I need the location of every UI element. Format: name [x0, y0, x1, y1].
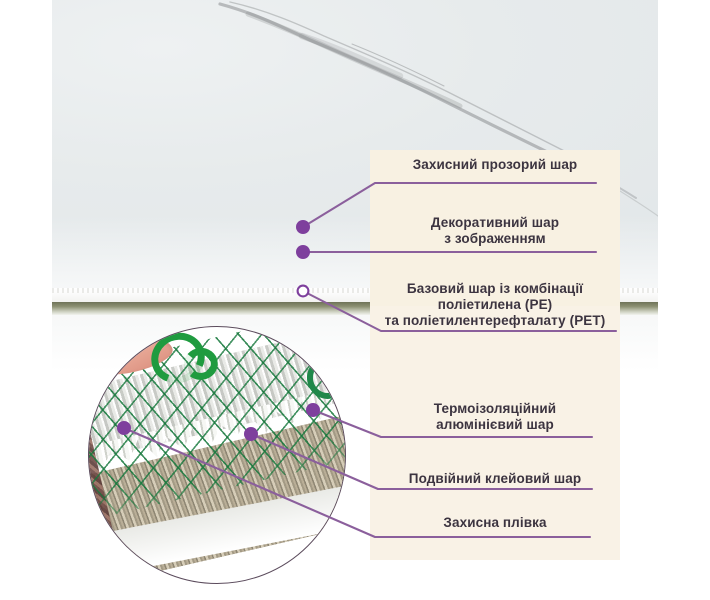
label-line-1: Подвійний клейовий шар [374, 471, 616, 487]
label-line-2: поліетилена (PE) [372, 297, 618, 313]
marker-decorative-image[interactable] [296, 245, 310, 259]
diagram-canvas: Захисний прозорий шар Декоративний шар з… [0, 0, 710, 600]
label-line-3: та поліетилентерефталату (PET) [372, 313, 618, 329]
label-double-adhesive-layer: Подвійний клейовий шар [374, 471, 616, 487]
callout-markers [117, 220, 320, 441]
label-line-1: Термоізоляційний [374, 401, 616, 417]
label-protective-film: Захисна плівка [374, 515, 616, 531]
label-decorative-image-layer: Декоративний шар з зображенням [374, 215, 616, 247]
label-line-1: Захисна плівка [374, 515, 616, 531]
marker-protective-transparent[interactable] [296, 220, 310, 234]
label-line-2: з зображенням [374, 231, 616, 247]
label-line-1: Декоративний шар [374, 215, 616, 231]
marker-protective-film[interactable] [117, 421, 131, 435]
marker-double-adhesive[interactable] [244, 427, 258, 441]
label-line-2: алюмінієвий шар [374, 417, 616, 433]
label-base-pe-pet-layer: Базовий шар із комбінації поліетилена (P… [372, 281, 618, 329]
marker-base-pe-pet[interactable] [298, 286, 309, 297]
label-protective-transparent-layer: Захисний прозорий шар [374, 157, 616, 173]
label-thermal-aluminium-layer: Термоізоляційний алюмінієвий шар [374, 401, 616, 433]
label-line-1: Захисний прозорий шар [374, 157, 616, 173]
label-line-1: Базовий шар із комбінації [372, 281, 618, 297]
marker-thermal-aluminium[interactable] [306, 403, 320, 417]
